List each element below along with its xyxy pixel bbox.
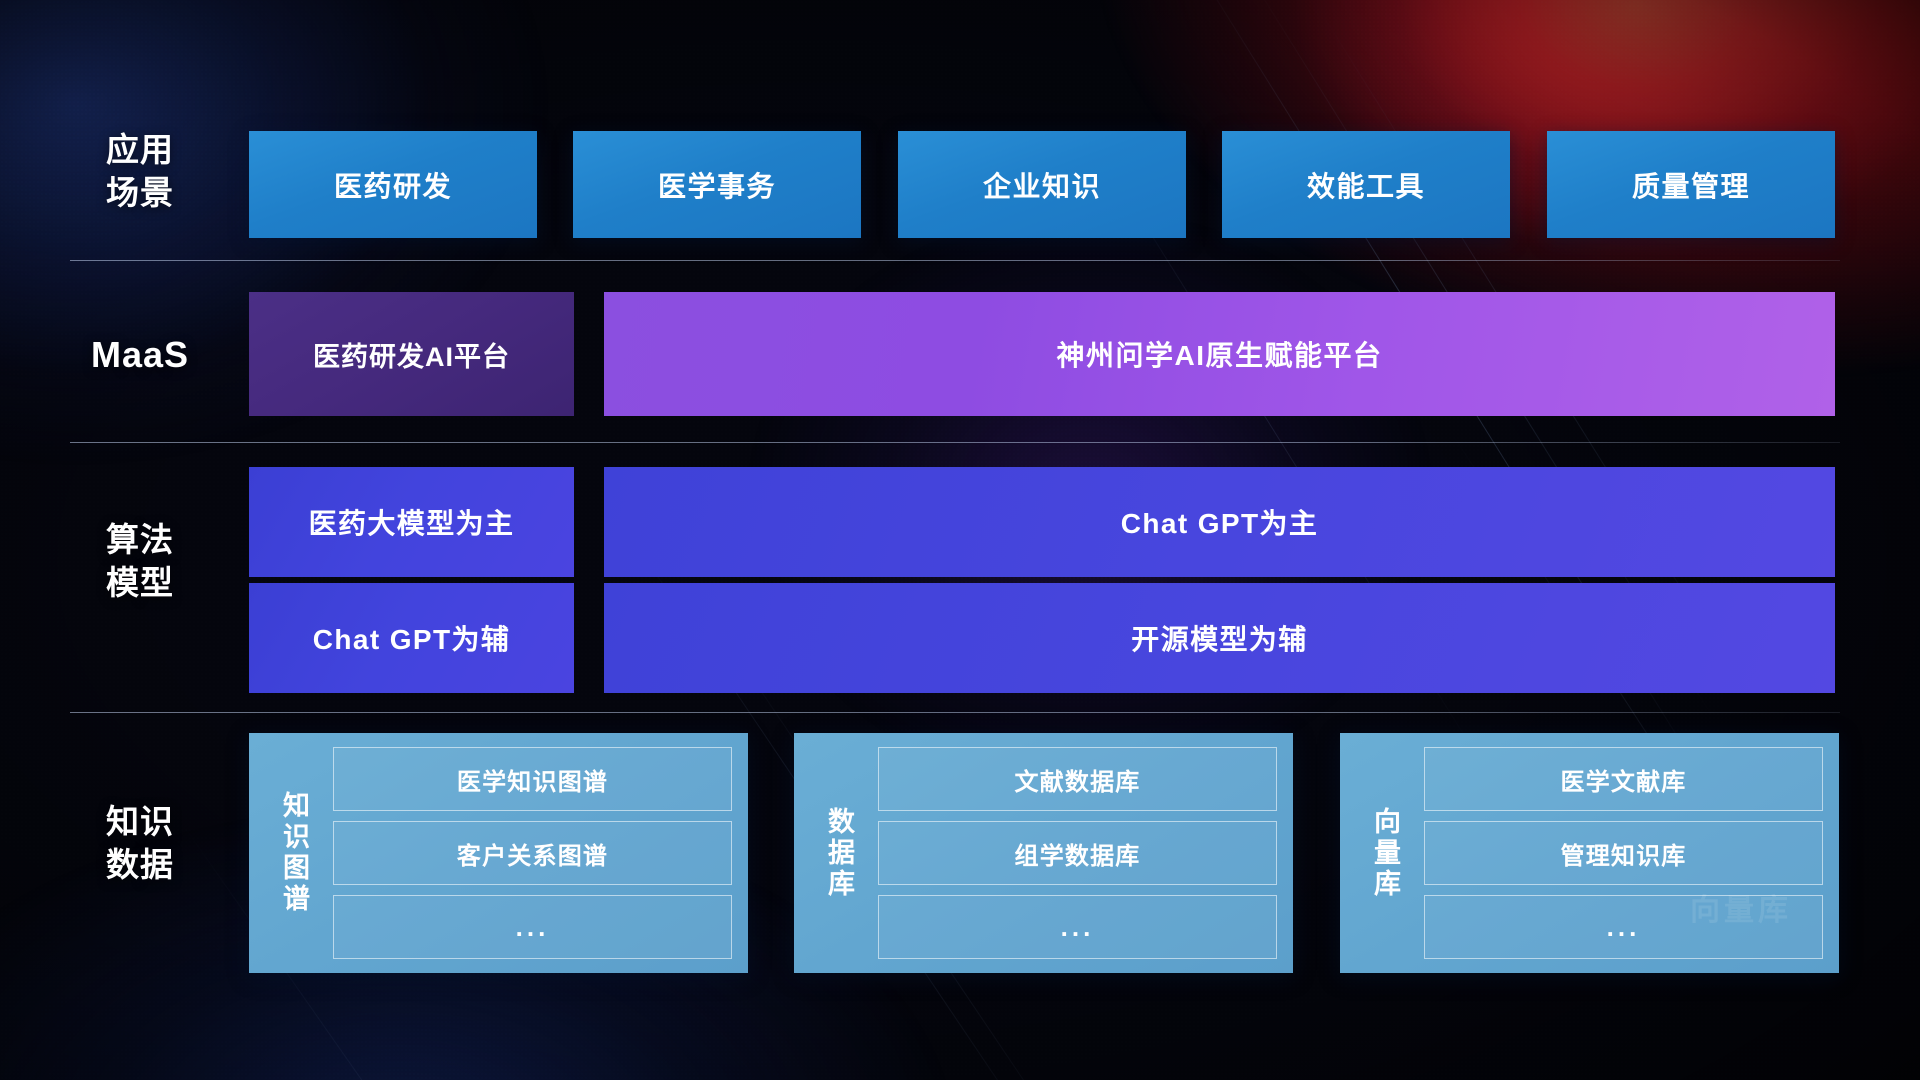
knowledge-item-1-0[interactable]: 文献数据库 (878, 747, 1277, 811)
maas-left-label: 医药研发AI平台 (313, 335, 510, 374)
divider-maas (70, 442, 1840, 443)
algo-left-box-0[interactable]: 医药大模型为主 (249, 467, 574, 577)
maas-right-box[interactable]: 神州问学AI原生赋能平台 (604, 292, 1835, 416)
maas-right-label: 神州问学AI原生赋能平台 (1056, 334, 1382, 374)
app-box-1[interactable]: 医学事务 (573, 131, 861, 238)
knowledge-group-0-title: 知识图谱 (263, 747, 325, 959)
algo-right-box-0[interactable]: Chat GPT为主 (604, 467, 1835, 577)
algo-right-box-1[interactable]: 开源模型为辅 (604, 583, 1835, 693)
row-label-knowledge-line2: 数据 (70, 843, 210, 886)
knowledge-group-1-title: 数据库 (808, 747, 870, 959)
knowledge-item-2-2[interactable]: ... (1424, 895, 1823, 959)
architecture-diagram: 应用 场景 医药研发 医学事务 企业知识 效能工具 质量管理 MaaS 医药研发… (0, 0, 1920, 1080)
app-box-3-label: 效能工具 (1307, 165, 1425, 205)
knowledge-group-2-items: 医学文献库 管理知识库 ... (1416, 747, 1823, 959)
row-label-algorithm-line2: 模型 (70, 561, 210, 604)
knowledge-group-1-items: 文献数据库 组学数据库 ... (870, 747, 1277, 959)
app-box-2[interactable]: 企业知识 (898, 131, 1186, 238)
row-label-application-line2: 场景 (70, 171, 210, 214)
knowledge-item-1-1[interactable]: 组学数据库 (878, 821, 1277, 885)
knowledge-item-0-1[interactable]: 客户关系图谱 (333, 821, 732, 885)
row-label-maas: MaaS (70, 333, 210, 376)
algo-left-label-0: 医药大模型为主 (309, 502, 515, 542)
app-box-4-label: 质量管理 (1632, 165, 1750, 205)
knowledge-item-0-2[interactable]: ... (333, 895, 732, 959)
app-box-1-label: 医学事务 (658, 165, 776, 205)
divider-algorithm (70, 712, 1840, 713)
knowledge-item-0-0[interactable]: 医学知识图谱 (333, 747, 732, 811)
row-label-knowledge: 知识 数据 (70, 800, 210, 886)
knowledge-item-1-2[interactable]: ... (878, 895, 1277, 959)
knowledge-group-0[interactable]: 知识图谱 医学知识图谱 客户关系图谱 ... (249, 733, 748, 973)
app-box-0[interactable]: 医药研发 (249, 131, 537, 238)
knowledge-group-2[interactable]: 向量库 医学文献库 管理知识库 ... (1340, 733, 1839, 973)
app-box-0-label: 医药研发 (334, 165, 452, 205)
knowledge-item-2-1[interactable]: 管理知识库 (1424, 821, 1823, 885)
row-label-algorithm-line1: 算法 (70, 518, 210, 561)
app-box-2-label: 企业知识 (983, 165, 1101, 205)
algo-left-label-1: Chat GPT为辅 (313, 618, 511, 658)
algo-right-label-0: Chat GPT为主 (1121, 502, 1319, 542)
app-box-3[interactable]: 效能工具 (1222, 131, 1510, 238)
knowledge-group-2-title: 向量库 (1354, 747, 1416, 959)
divider-application (70, 260, 1840, 261)
app-box-4[interactable]: 质量管理 (1547, 131, 1835, 238)
row-label-application-line1: 应用 (70, 128, 210, 171)
algo-right-label-1: 开源模型为辅 (1131, 618, 1307, 658)
maas-left-box[interactable]: 医药研发AI平台 (249, 292, 574, 416)
knowledge-group-0-items: 医学知识图谱 客户关系图谱 ... (325, 747, 732, 959)
algo-left-box-1[interactable]: Chat GPT为辅 (249, 583, 574, 693)
knowledge-group-1[interactable]: 数据库 文献数据库 组学数据库 ... (794, 733, 1293, 973)
row-label-application: 应用 场景 (70, 128, 210, 214)
row-label-knowledge-line1: 知识 (70, 800, 210, 843)
knowledge-item-2-0[interactable]: 医学文献库 (1424, 747, 1823, 811)
row-label-algorithm: 算法 模型 (70, 518, 210, 604)
row-label-maas-text: MaaS (91, 334, 189, 375)
